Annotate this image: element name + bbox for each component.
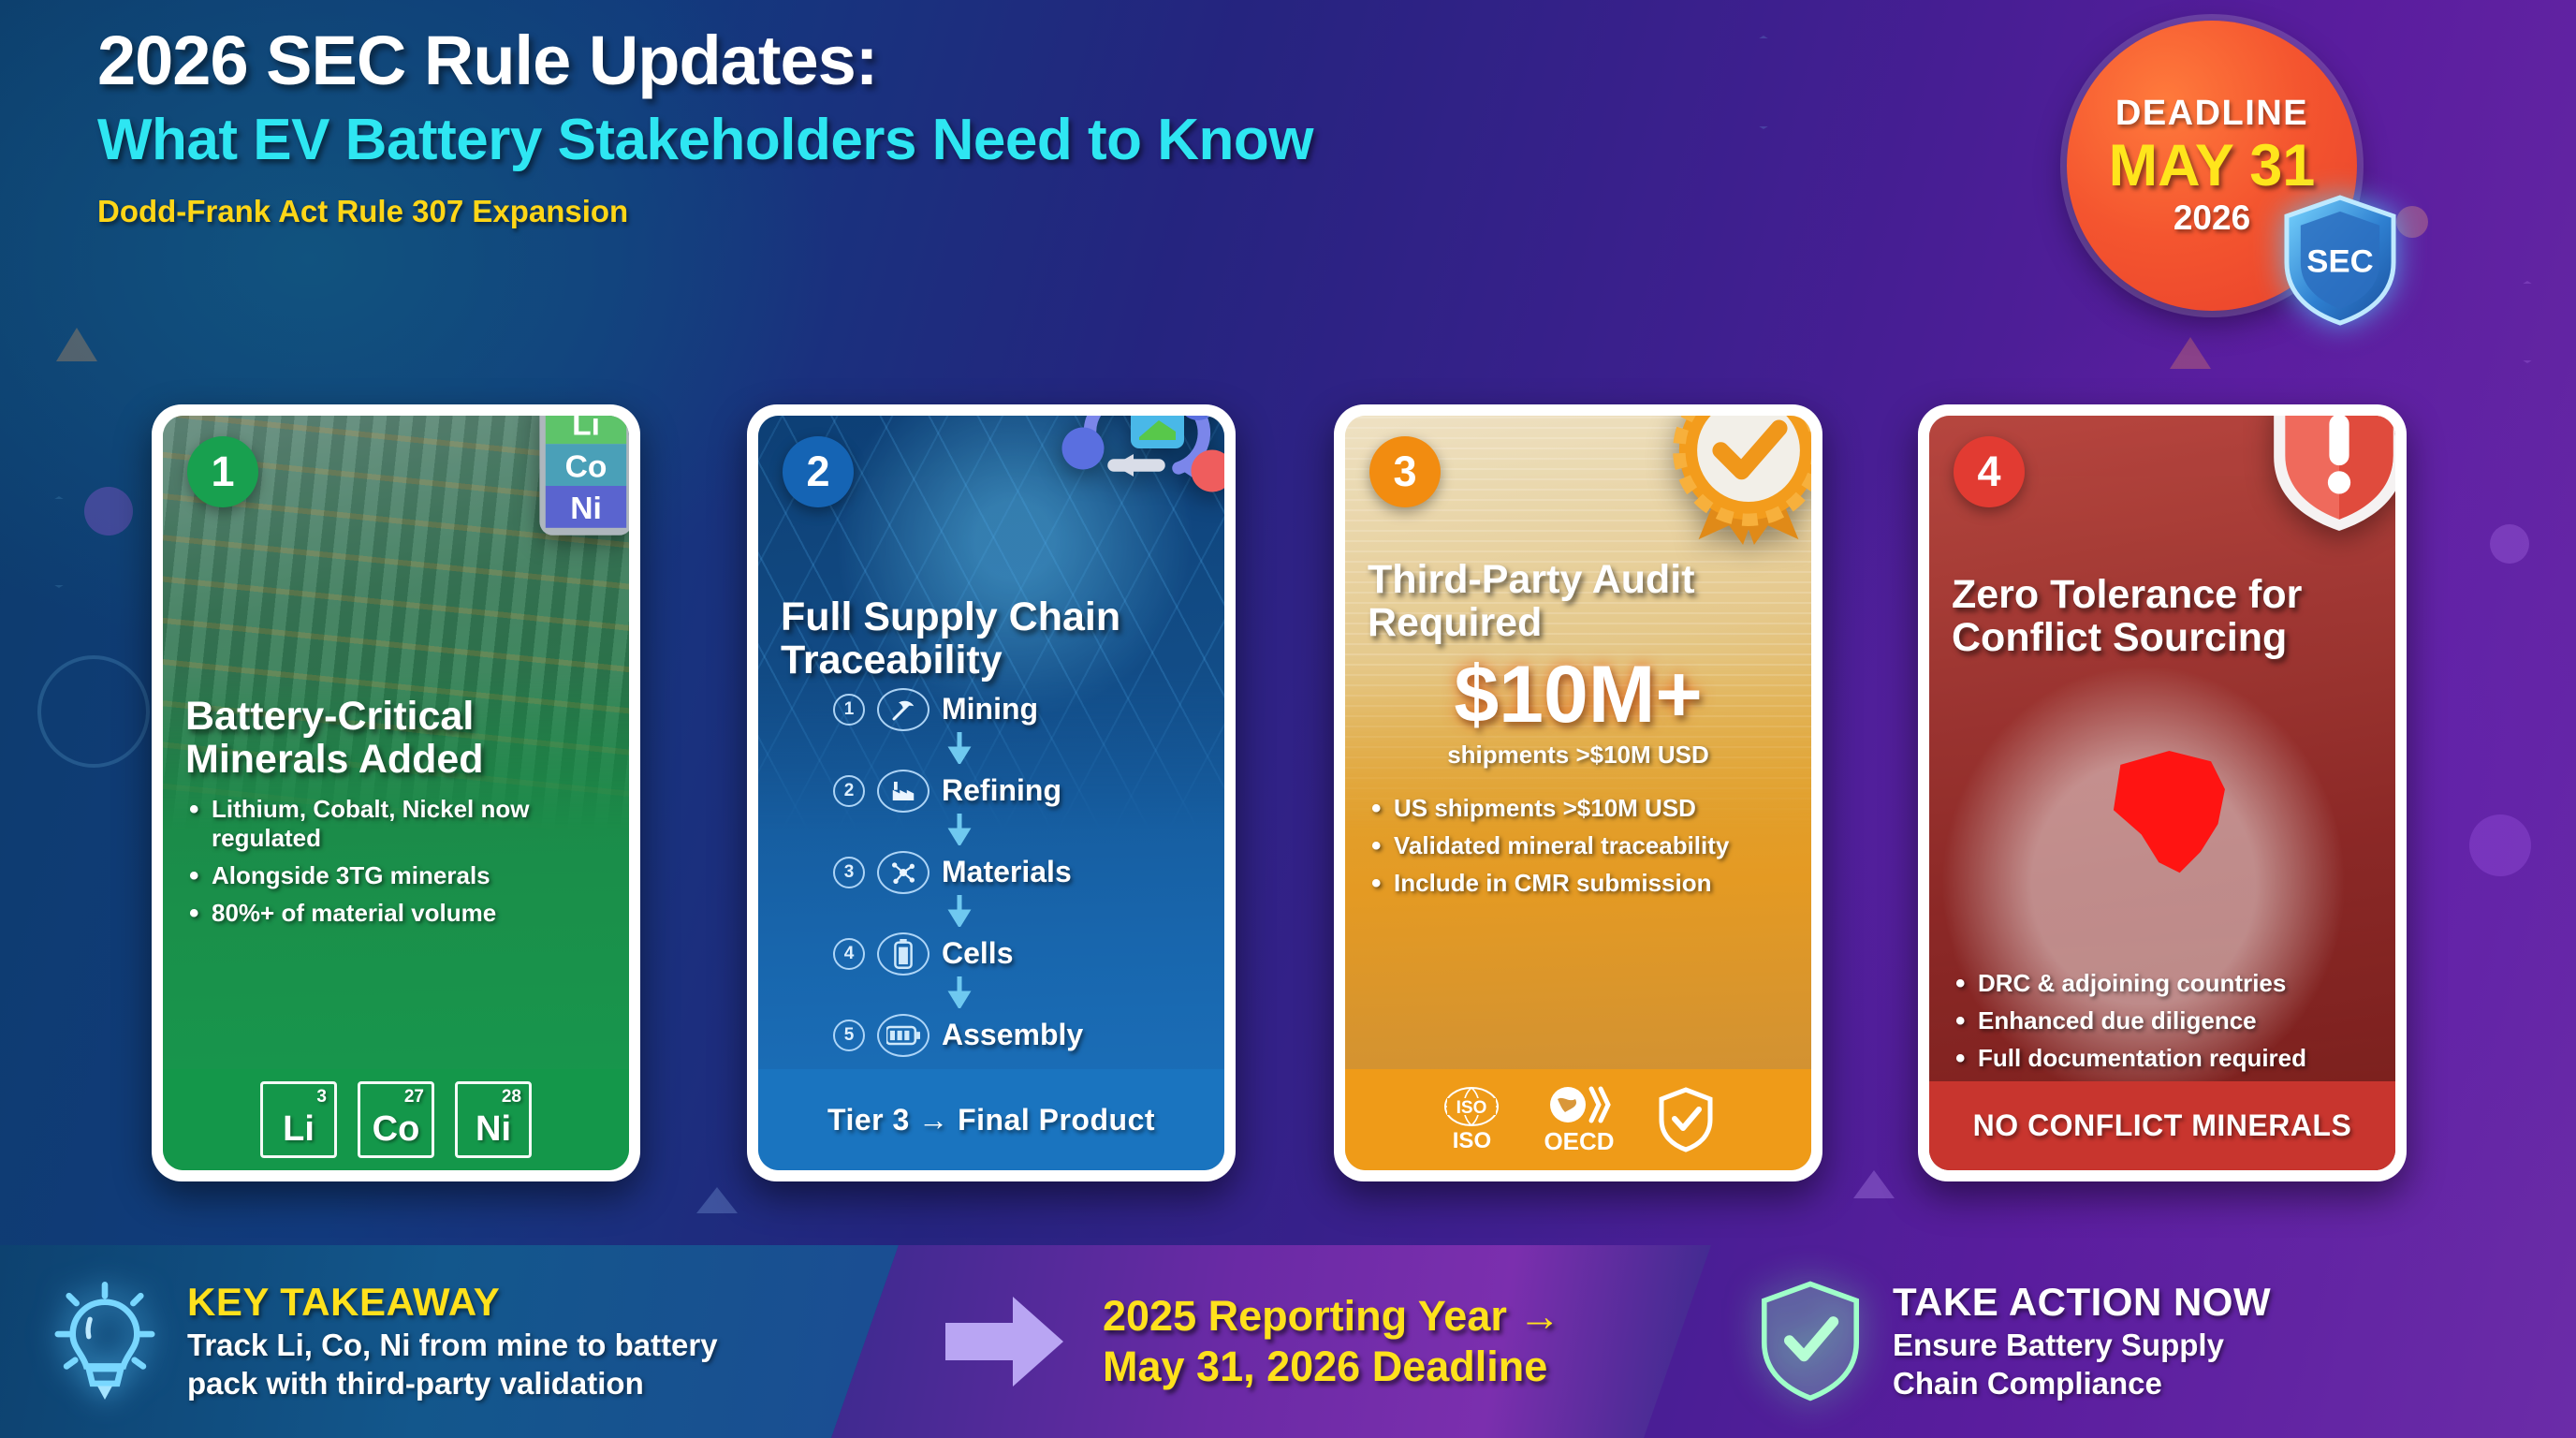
arrow-right-icon xyxy=(944,1284,1065,1400)
deadline-date: MAY 31 xyxy=(2109,136,2316,198)
arrow-down-icon xyxy=(947,814,972,845)
svg-text:ISO: ISO xyxy=(1456,1098,1487,1118)
lightbulb-icon xyxy=(54,1280,155,1403)
atomic-number: 3 xyxy=(316,1087,327,1108)
stat-value: $10M+ xyxy=(1368,654,1789,735)
step-number: 1 xyxy=(833,694,865,726)
triangle-decoration xyxy=(56,328,97,361)
element-symbol: Li xyxy=(283,1109,315,1150)
flow-step-refining: 2 Refining xyxy=(833,770,1202,813)
card-footer: NO CONFLICT MINERALS xyxy=(1929,1081,2395,1170)
bottom-bar: KEY TAKEAWAY Track Li, Co, Ni from mine … xyxy=(0,1245,2576,1438)
step-number: 5 xyxy=(833,1020,865,1051)
page-tagline: Dodd-Frank Act Rule 307 Expansion xyxy=(97,194,1595,229)
iso-logo: ISO ISO xyxy=(1442,1085,1500,1154)
card-number-badge: 3 xyxy=(1369,436,1441,507)
atomic-number: 27 xyxy=(404,1087,424,1108)
card-number-badge: 1 xyxy=(187,436,258,507)
battery-icon xyxy=(877,932,929,976)
circle-decoration xyxy=(2396,206,2428,238)
supply-chain-flow: 1 Mining 2 Refining xyxy=(781,688,1202,1057)
factory-icon xyxy=(877,770,929,813)
arrow-down-icon xyxy=(947,732,972,764)
pickaxe-icon xyxy=(877,688,929,731)
step-label: Cells xyxy=(942,936,1013,971)
step-number: 2 xyxy=(833,775,865,807)
flow-step-assembly: 5 Assembly xyxy=(833,1014,1202,1057)
svg-text:SEC: SEC xyxy=(2306,243,2373,279)
card-supply-chain[interactable]: 2 Full Supply Chain Traceability 1 xyxy=(747,404,1236,1181)
battery-full-icon xyxy=(877,1014,929,1057)
action-heading: TAKE ACTION NOW xyxy=(1893,1281,2271,1323)
oecd-label: OECD xyxy=(1544,1127,1614,1156)
timeline-line2: May 31, 2026 Deadline xyxy=(1103,1342,1560,1392)
timeline-line1: 2025 Reporting Year → xyxy=(1103,1291,1560,1342)
card-number-badge: 4 xyxy=(1954,436,2025,507)
element-tile-ni: 28 Ni xyxy=(455,1081,532,1158)
arrow-down-icon xyxy=(947,895,972,927)
deadline-year: 2026 xyxy=(2173,198,2250,238)
list-item: Enhanced due diligence xyxy=(1952,1006,2373,1035)
takeaway-text-line1: Track Li, Co, Ni from mine to battery xyxy=(187,1327,718,1364)
list-item: US shipments >$10M USD xyxy=(1368,794,1789,823)
flow-step-cells: 4 Cells xyxy=(833,932,1202,976)
element-symbol: Ni xyxy=(476,1109,511,1150)
svg-text:Co: Co xyxy=(565,449,607,484)
element-symbol: Co xyxy=(373,1109,420,1150)
list-item: 80%+ of material volume xyxy=(185,899,607,928)
step-number: 3 xyxy=(833,857,865,888)
element-tile-co: 27 Co xyxy=(358,1081,434,1158)
step-label: Refining xyxy=(942,773,1061,808)
list-item: Lithium, Cobalt, Nickel now regulated xyxy=(185,795,607,853)
action-text-line2: Chain Compliance xyxy=(1893,1365,2271,1402)
atomic-number: 28 xyxy=(502,1087,521,1108)
flow-step-mining: 1 Mining xyxy=(833,688,1202,731)
svg-text:Li: Li xyxy=(572,416,600,443)
shield-check-icon xyxy=(1658,1087,1714,1152)
flow-step-materials: 3 Materials xyxy=(833,851,1202,894)
supply-chain-link-icons xyxy=(1041,416,1224,507)
list-item: Validated mineral traceability xyxy=(1368,831,1789,860)
page-subtitle: What EV Battery Stakeholders Need to Kno… xyxy=(97,109,1595,172)
sec-shield-icon: SEC xyxy=(2282,195,2398,326)
timeline-segment: 2025 Reporting Year → May 31, 2026 Deadl… xyxy=(831,1245,1711,1438)
header: 2026 SEC Rule Updates: What EV Battery S… xyxy=(97,24,1595,229)
list-item: Alongside 3TG minerals xyxy=(185,861,607,890)
card-third-party-audit[interactable]: 3 Third-Party Audit Required $10M+ shipm… xyxy=(1334,404,1822,1181)
step-label: Materials xyxy=(942,855,1072,889)
molecule-icon xyxy=(877,851,929,894)
stat-subtitle: shipments >$10M USD xyxy=(1368,741,1789,770)
key-takeaway-segment: KEY TAKEAWAY Track Li, Co, Ni from mine … xyxy=(0,1245,899,1438)
shield-check-icon xyxy=(1758,1280,1863,1403)
takeaway-text-line2: pack with third-party validation xyxy=(187,1365,718,1402)
svg-text:Ni: Ni xyxy=(570,492,602,526)
card-title: Zero Tolerance for Conflict Sourcing xyxy=(1952,573,2373,660)
battery-minerals-icon: Li Co Ni xyxy=(534,416,629,543)
list-item: Full documentation required xyxy=(1952,1044,2373,1073)
award-check-icon xyxy=(1665,416,1811,545)
hexagon-decoration xyxy=(2490,281,2565,363)
card-footer-text: NO CONFLICT MINERALS xyxy=(1973,1108,2352,1143)
card-bullet-list: US shipments >$10M USD Validated mineral… xyxy=(1368,794,1789,899)
card-title: Full Supply Chain Traceability xyxy=(781,595,1202,682)
list-item: DRC & adjoining countries xyxy=(1952,969,2373,998)
step-label: Assembly xyxy=(942,1018,1083,1052)
step-label: Mining xyxy=(942,692,1038,726)
iso-label: ISO xyxy=(1453,1128,1491,1154)
step-number: 4 xyxy=(833,938,865,970)
card-footer: Tier 3 → Final Product xyxy=(758,1069,1224,1170)
card-footer-text: Tier 3 → Final Product xyxy=(827,1103,1155,1137)
card-footer: ISO ISO OECD xyxy=(1345,1069,1811,1170)
hexagon-decoration xyxy=(1720,36,1807,129)
triangle-decoration xyxy=(2170,337,2211,369)
takeaway-heading: KEY TAKEAWAY xyxy=(187,1281,718,1323)
page-title: 2026 SEC Rule Updates: xyxy=(97,24,1595,97)
arrow-down-icon xyxy=(947,976,972,1008)
element-tile-li: 3 Li xyxy=(260,1081,337,1158)
list-item: Include in CMR submission xyxy=(1368,869,1789,898)
card-bullet-list: DRC & adjoining countries Enhanced due d… xyxy=(1952,969,2373,1074)
take-action-segment: TAKE ACTION NOW Ensure Battery Supply Ch… xyxy=(1644,1245,2576,1438)
card-footer: 3 Li 27 Co 28 Ni xyxy=(163,1069,629,1170)
card-battery-minerals[interactable]: 1 Li Co Ni Battery-Critical Minerals Add… xyxy=(152,404,640,1181)
card-title: Third-Party Audit Required xyxy=(1368,558,1789,645)
triangle-decoration xyxy=(696,1187,738,1213)
cards-row: 1 Li Co Ni Battery-Critical Minerals Add… xyxy=(0,404,2576,1181)
card-bullet-list: Lithium, Cobalt, Nickel now regulated Al… xyxy=(185,795,607,929)
alert-shield-icon xyxy=(2268,416,2395,534)
deadline-label: DEADLINE xyxy=(2115,94,2308,134)
card-title: Battery-Critical Minerals Added xyxy=(185,695,607,782)
card-conflict-sourcing[interactable]: 4 Zero Tolerance for Conflict Sourcing D… xyxy=(1918,404,2407,1181)
action-text-line1: Ensure Battery Supply xyxy=(1893,1327,2271,1364)
oecd-logo: OECD xyxy=(1544,1084,1614,1156)
card-number-badge: 2 xyxy=(783,436,854,507)
